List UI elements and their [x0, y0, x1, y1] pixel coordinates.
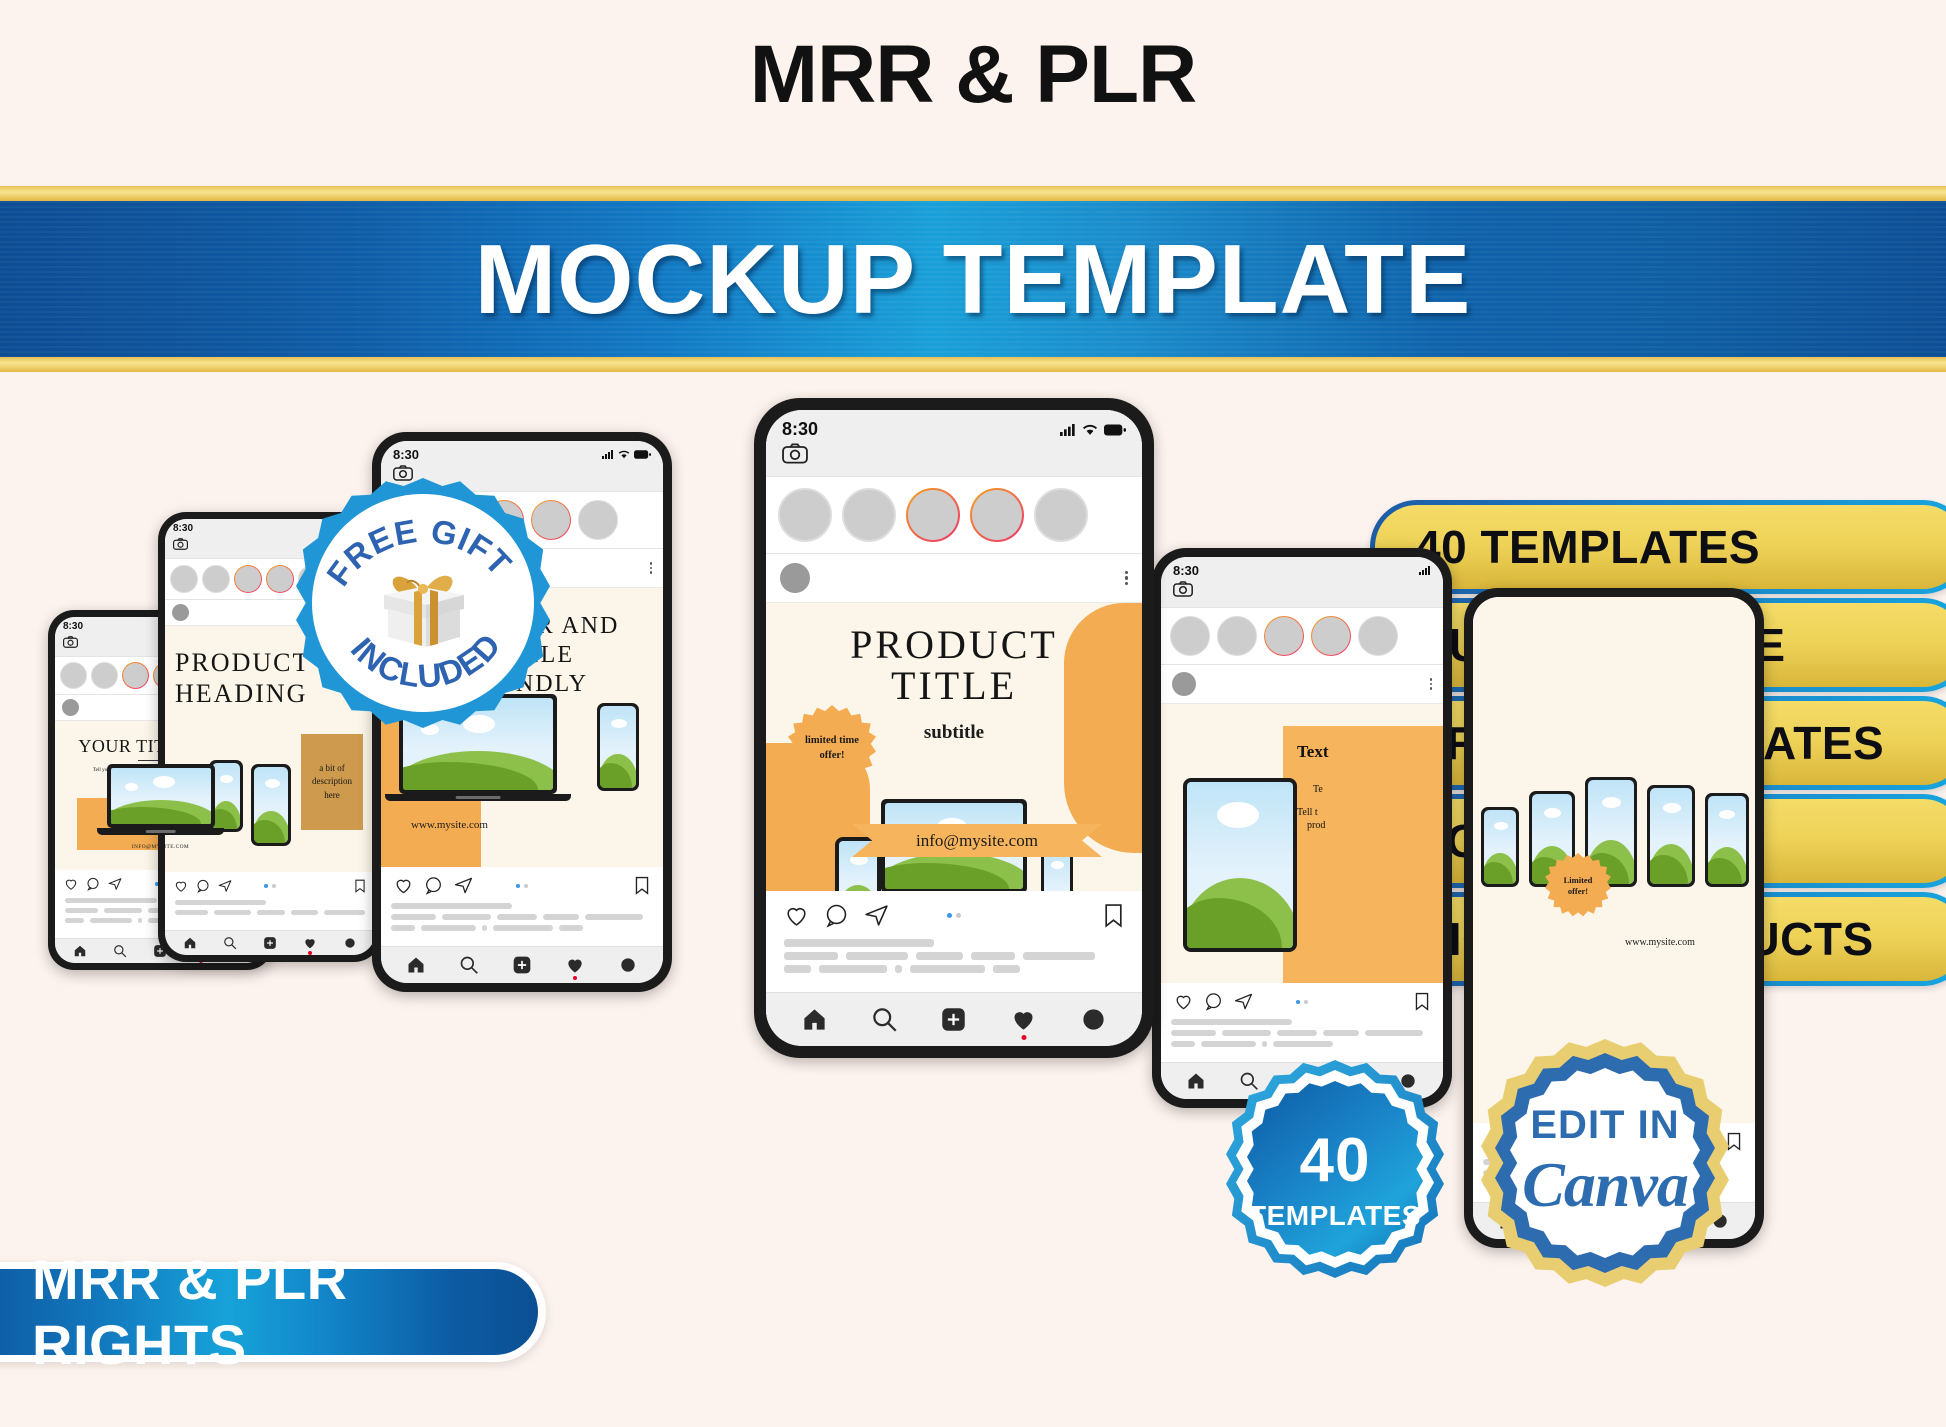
- wifi-icon: [618, 450, 630, 459]
- panel-heading: Text: [1283, 726, 1443, 762]
- description-tag: a bit of description here: [301, 734, 363, 830]
- heart-icon[interactable]: [394, 876, 413, 895]
- search-icon[interactable]: [113, 944, 127, 958]
- camera-row: [1173, 578, 1431, 602]
- story-bar: [1161, 607, 1443, 665]
- heart-icon[interactable]: [1174, 992, 1193, 1011]
- heart-icon[interactable]: [64, 877, 78, 891]
- hero-banner: MOCKUP TEMPLATE: [0, 186, 1946, 372]
- phone-4-screen: 8:30: [766, 410, 1142, 1046]
- activity-heart-icon[interactable]: [1010, 1006, 1037, 1033]
- carousel-pager: [947, 913, 961, 918]
- post-url: www.mysite.com: [411, 819, 488, 831]
- page-title: MRR & PLR: [0, 28, 1946, 122]
- heart-icon[interactable]: [784, 903, 809, 928]
- signal-icon: [1419, 566, 1431, 575]
- profile-icon[interactable]: [343, 936, 357, 950]
- comment-icon[interactable]: [1204, 992, 1223, 1011]
- story-avatar-unseen[interactable]: [266, 565, 294, 593]
- canva-line2: Canva: [1481, 1148, 1729, 1222]
- panel-line2: Tell t: [1283, 795, 1443, 818]
- camera-icon[interactable]: [782, 443, 808, 464]
- search-icon[interactable]: [459, 955, 479, 975]
- plus-icon[interactable]: [512, 955, 532, 975]
- camera-row: [782, 440, 1126, 469]
- comment-icon[interactable]: [824, 903, 849, 928]
- share-icon[interactable]: [108, 877, 122, 891]
- status-icons: [602, 450, 651, 459]
- story-bar: [766, 476, 1142, 554]
- status-bar: 8:30: [1161, 557, 1443, 607]
- post-caption: [381, 899, 663, 946]
- post-url: www.mysite.com: [1625, 937, 1695, 948]
- post-content: PRODUCT TITLE subtitle limited time offe…: [766, 603, 1142, 891]
- share-icon[interactable]: [454, 876, 473, 895]
- bookmark-icon[interactable]: [354, 879, 366, 893]
- profile-icon[interactable]: [618, 955, 638, 975]
- more-options-icon[interactable]: [650, 562, 653, 574]
- story-avatar[interactable]: [1170, 616, 1210, 656]
- home-icon[interactable]: [801, 1006, 828, 1033]
- orange-panel: Text Te Tell t prod: [1283, 726, 1443, 983]
- avatar[interactable]: [780, 563, 810, 593]
- panel-line3: prod: [1283, 818, 1443, 831]
- laptop-mockup: [107, 764, 215, 835]
- story-avatar[interactable]: [1358, 616, 1398, 656]
- status-time: 8:30: [63, 621, 83, 632]
- search-icon[interactable]: [223, 936, 237, 950]
- story-avatar[interactable]: [778, 488, 832, 542]
- status-icons: [1060, 424, 1126, 436]
- story-avatar-unseen[interactable]: [970, 488, 1024, 542]
- post-actions: [1161, 983, 1443, 1015]
- signal-icon: [1060, 424, 1076, 436]
- carousel-pager: [516, 884, 528, 888]
- post-actions: [766, 891, 1142, 933]
- story-avatar[interactable]: [202, 565, 230, 593]
- status-time: 8:30: [173, 523, 193, 534]
- post-header: [1161, 665, 1443, 704]
- status-bar: 8:30: [766, 410, 1142, 476]
- home-icon[interactable]: [73, 944, 87, 958]
- story-avatar[interactable]: [170, 565, 198, 593]
- story-avatar[interactable]: [91, 662, 118, 689]
- more-options-icon[interactable]: [1430, 678, 1433, 690]
- comment-icon[interactable]: [424, 876, 443, 895]
- devphone-mockup: [597, 703, 639, 791]
- story-avatar[interactable]: [1217, 616, 1257, 656]
- story-avatar[interactable]: [60, 662, 87, 689]
- share-icon[interactable]: [864, 903, 889, 928]
- profile-icon[interactable]: [1080, 1006, 1107, 1033]
- forty-number: 40: [1226, 1125, 1444, 1196]
- post-caption: [766, 933, 1142, 992]
- share-icon[interactable]: [218, 879, 232, 893]
- poster-canvas: MRR & PLR MOCKUP TEMPLATE 8:30: [0, 0, 1946, 1427]
- comment-icon[interactable]: [86, 877, 100, 891]
- forty-label: TEMPLATES: [1226, 1200, 1444, 1232]
- search-icon[interactable]: [871, 1006, 898, 1033]
- free-gift-badge: FREE GIFT INCLUDED: [296, 478, 550, 728]
- story-avatar-unseen[interactable]: [234, 565, 262, 593]
- camera-icon[interactable]: [173, 538, 188, 550]
- bottom-nav: [381, 946, 663, 983]
- devphone-mockup: [251, 764, 291, 846]
- plus-icon[interactable]: [940, 1006, 967, 1033]
- phone-mockup-5: 8:30: [1152, 548, 1452, 1108]
- post-title-line1: PRODUCT: [766, 625, 1142, 666]
- story-avatar-unseen[interactable]: [1264, 616, 1304, 656]
- post-caption: [1161, 1015, 1443, 1062]
- rights-banner: MRR & PLR RIGHTS: [0, 1262, 546, 1362]
- post-actions: [165, 872, 375, 896]
- signal-icon: [602, 450, 614, 459]
- tablet-mockup: [1183, 778, 1297, 952]
- canva-line1: EDIT IN: [1481, 1103, 1729, 1148]
- story-avatar-unseen[interactable]: [906, 488, 960, 542]
- phone-mockup-4: 8:30: [754, 398, 1154, 1058]
- status-icons: [1419, 566, 1431, 575]
- camera-icon[interactable]: [1173, 581, 1193, 597]
- post-actions: [381, 867, 663, 899]
- feature-pill[interactable]: 40 TEMPLATES: [1370, 500, 1946, 594]
- home-icon[interactable]: [1186, 1071, 1206, 1091]
- share-icon[interactable]: [1234, 992, 1253, 1011]
- battery-icon: [1104, 424, 1126, 436]
- avatar[interactable]: [62, 699, 79, 716]
- story-avatar[interactable]: [842, 488, 896, 542]
- story-avatar[interactable]: [1034, 488, 1088, 542]
- home-icon[interactable]: [183, 936, 197, 950]
- camera-icon[interactable]: [63, 636, 78, 648]
- search-icon[interactable]: [1239, 1071, 1259, 1091]
- gift-box-icon: [374, 559, 472, 651]
- post-email: INFO@MYSITE.COM: [77, 844, 244, 850]
- avatar[interactable]: [1172, 672, 1196, 696]
- panel-line1: Te: [1283, 762, 1443, 795]
- email-ribbon: info@mysite.com: [852, 824, 1102, 857]
- feature-pill-label: 40 TEMPLATES: [1375, 505, 1946, 589]
- more-options-icon[interactable]: [1125, 571, 1129, 586]
- bookmark-icon[interactable]: [1414, 992, 1430, 1011]
- plus-icon[interactable]: [263, 936, 277, 950]
- status-time: 8:30: [393, 447, 419, 462]
- rights-banner-label: MRR & PLR RIGHTS: [0, 1269, 538, 1355]
- activity-heart-icon[interactable]: [303, 936, 317, 950]
- avatar[interactable]: [172, 604, 189, 621]
- home-icon[interactable]: [406, 955, 426, 975]
- edit-in-canva-badge: EDIT IN Canva: [1481, 1039, 1729, 1287]
- story-avatar-unseen[interactable]: [1311, 616, 1351, 656]
- carousel-pager: [1296, 1000, 1308, 1004]
- bookmark-icon[interactable]: [634, 876, 650, 895]
- post-caption: [165, 896, 375, 930]
- post-content: Text Te Tell t prod: [1161, 704, 1443, 983]
- forty-templates-badge: 40 TEMPLATES: [1226, 1060, 1444, 1278]
- wifi-icon: [1082, 424, 1098, 436]
- status-time: 8:30: [782, 419, 818, 440]
- activity-heart-icon[interactable]: [565, 955, 585, 975]
- post-title-line2: TITLE: [766, 666, 1142, 707]
- heart-icon[interactable]: [174, 879, 188, 893]
- story-avatar-unseen[interactable]: [122, 662, 149, 689]
- carousel-pager: [264, 884, 276, 888]
- battery-icon: [634, 450, 651, 459]
- bookmark-icon[interactable]: [1103, 903, 1124, 928]
- phone-5-screen: 8:30: [1161, 557, 1443, 1099]
- device-row: [1481, 777, 1749, 887]
- comment-icon[interactable]: [196, 879, 210, 893]
- post-header: [766, 554, 1142, 603]
- banner-title: MOCKUP TEMPLATE: [0, 186, 1946, 372]
- status-time: 8:30: [1173, 563, 1199, 578]
- story-avatar[interactable]: [578, 500, 618, 540]
- bottom-nav: [165, 930, 375, 955]
- bottom-nav: [766, 992, 1142, 1046]
